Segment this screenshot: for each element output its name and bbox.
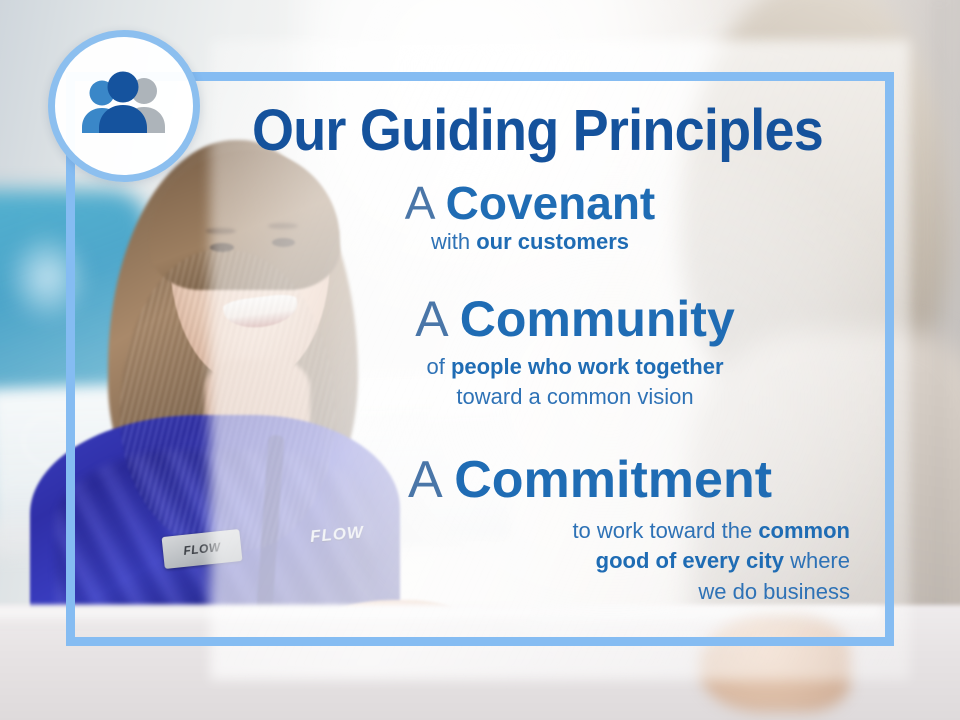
principle-3-article: A bbox=[408, 451, 440, 509]
principle-2-article: A bbox=[415, 291, 446, 347]
principle-3-sub-tail: where bbox=[784, 548, 850, 573]
principle-1-heading: A Covenant bbox=[270, 180, 790, 227]
principle-2-heading: A Community bbox=[320, 294, 830, 345]
principle-covenant: A Covenant with our customers bbox=[270, 180, 790, 257]
principle-2-subtext: of people who work together toward a com… bbox=[320, 352, 830, 413]
vehicle-highlight bbox=[5, 230, 90, 325]
page-title: Our Guiding Principles bbox=[238, 102, 838, 160]
principle-2-word: Community bbox=[460, 291, 735, 347]
principle-3-sub-bold-2: good of every city bbox=[596, 548, 784, 573]
principle-3-word: Commitment bbox=[454, 451, 772, 509]
principle-commitment: A Commitment to work toward the common g… bbox=[330, 454, 850, 607]
principle-1-word: Covenant bbox=[446, 177, 656, 229]
principle-2-sub-line2: toward a common vision bbox=[456, 384, 693, 409]
principle-1-sub-bold: our customers bbox=[476, 229, 629, 254]
principle-3-sub-bold-1: common bbox=[758, 518, 850, 543]
principle-3-subtext: to work toward the common good of every … bbox=[330, 516, 850, 607]
principle-community: A Community of people who work together … bbox=[320, 294, 830, 413]
principle-1-article: A bbox=[405, 177, 433, 229]
principle-2-sub-bold: people who work together bbox=[451, 354, 724, 379]
principle-3-sub-lead: to work toward the bbox=[572, 518, 758, 543]
principle-1-subtext: with our customers bbox=[270, 227, 790, 257]
principle-3-sub-line3: we do business bbox=[698, 579, 850, 604]
guiding-principles-poster: FLOW FLOW Our Guiding Principles bbox=[0, 0, 960, 720]
principle-1-sub-lead: with bbox=[431, 229, 476, 254]
principle-2-sub-lead: of bbox=[426, 354, 450, 379]
principle-3-heading: A Commitment bbox=[330, 454, 850, 507]
text-content: Our Guiding Principles A Covenant with o… bbox=[90, 72, 870, 646]
